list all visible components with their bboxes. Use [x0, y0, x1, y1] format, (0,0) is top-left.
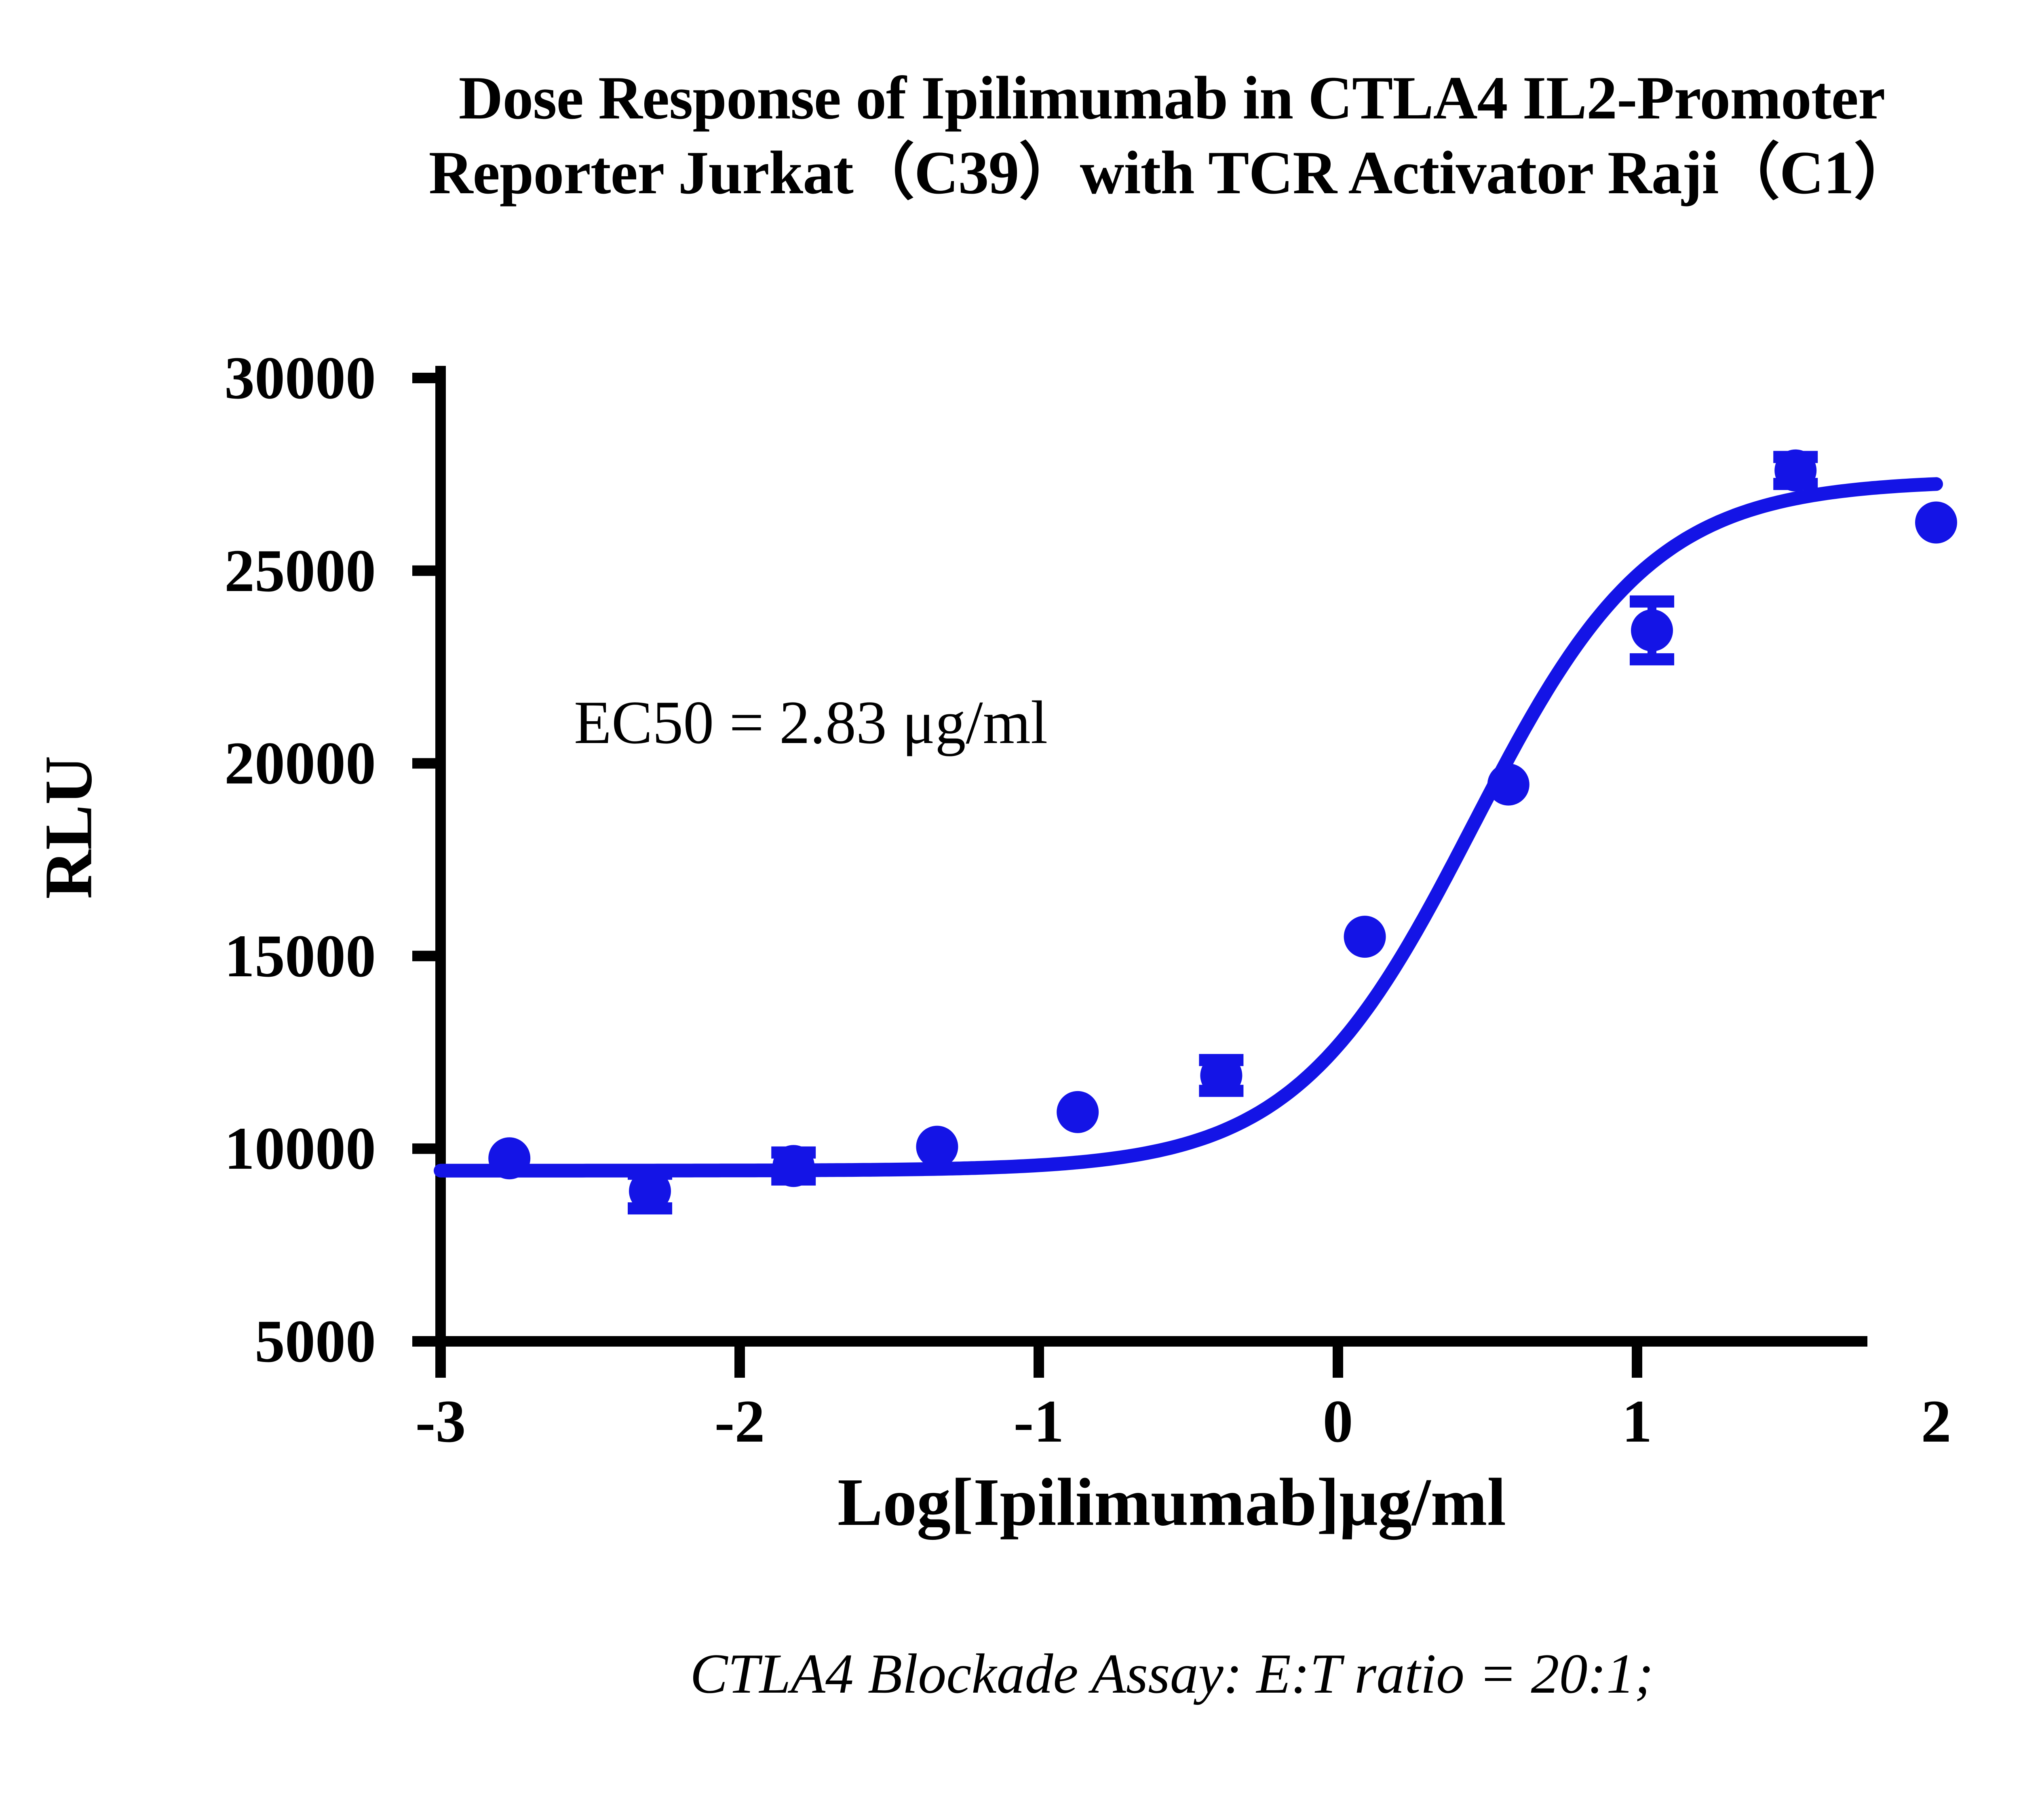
- data-point-marker: [1057, 1091, 1099, 1133]
- data-point-marker: [1774, 450, 1816, 492]
- data-point-marker: [1631, 609, 1673, 651]
- plot-area: [0, 0, 2021, 1820]
- data-point-marker: [1915, 501, 1957, 543]
- data-point-marker: [1200, 1054, 1242, 1096]
- data-point-marker: [772, 1145, 814, 1187]
- figure-canvas: Dose Response of Ipilimumab in CTLA4 IL2…: [0, 0, 2021, 1820]
- data-point-marker: [916, 1126, 958, 1168]
- data-point-marker: [629, 1170, 671, 1212]
- fit-curve: [441, 484, 1936, 1170]
- data-point-marker: [488, 1137, 530, 1179]
- data-point-marker: [1487, 764, 1529, 806]
- data-point-marker: [1344, 916, 1386, 958]
